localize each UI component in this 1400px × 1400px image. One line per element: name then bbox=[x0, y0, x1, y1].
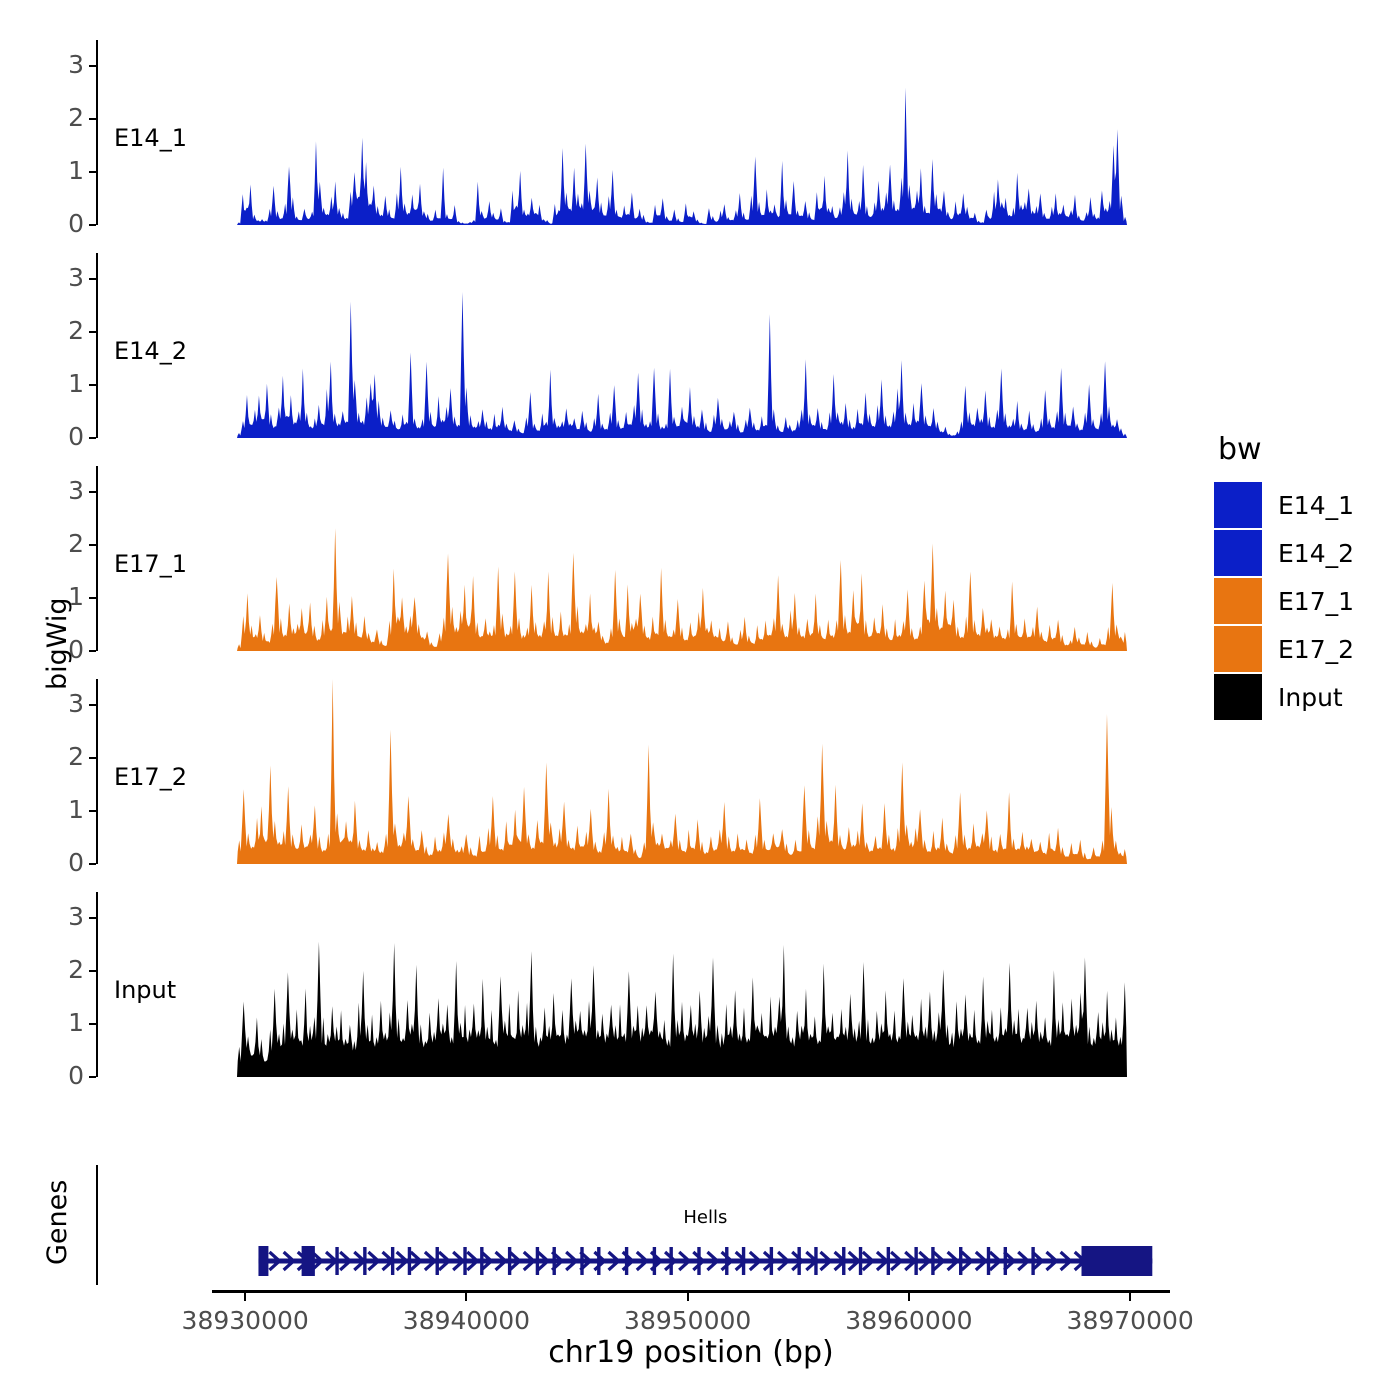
x-tick-label: 38930000 bbox=[145, 1306, 345, 1335]
y-tick-label: 1 bbox=[16, 1010, 84, 1035]
legend-items: E14_1E14_2E17_1E17_2Input bbox=[1214, 481, 1354, 721]
gene-exon-tick bbox=[669, 1247, 672, 1275]
bigwig-panel-e14_1: 0123E14_1 bbox=[96, 40, 1167, 225]
panel-label-e14_2: E14_2 bbox=[114, 337, 187, 365]
x-tick bbox=[687, 1293, 689, 1301]
legend: bw E14_1E14_2E17_1E17_2Input bbox=[1214, 432, 1354, 721]
gene-exon-tick bbox=[725, 1247, 728, 1275]
y-tick bbox=[89, 970, 96, 972]
legend-color-swatch bbox=[1214, 674, 1262, 720]
gene-exon-tick bbox=[914, 1247, 917, 1275]
gene-exon-block bbox=[258, 1246, 268, 1276]
y-tick bbox=[89, 278, 96, 280]
y-tick-label: 0 bbox=[16, 1063, 84, 1088]
y-tick bbox=[89, 1076, 96, 1078]
y-tick bbox=[89, 917, 96, 919]
y-tick-label: 2 bbox=[16, 105, 84, 130]
legend-color-swatch bbox=[1214, 482, 1262, 528]
gene-exon-tick bbox=[742, 1247, 745, 1275]
signal-area-e17_2 bbox=[237, 679, 1127, 864]
y-tick bbox=[89, 491, 96, 493]
x-tick-label: 38970000 bbox=[1030, 1306, 1230, 1335]
y-tick bbox=[89, 544, 96, 546]
x-axis-line bbox=[212, 1290, 1170, 1293]
y-tick bbox=[89, 757, 96, 759]
gene-exon-tick bbox=[597, 1247, 600, 1275]
signal-track-e17_1 bbox=[237, 466, 1127, 651]
x-axis-title: chr19 position (bp) bbox=[212, 1335, 1170, 1370]
legend-item-label: E17_1 bbox=[1278, 587, 1354, 616]
y-tick bbox=[89, 331, 96, 333]
gene-exon-tick bbox=[408, 1247, 411, 1275]
legend-item-label: E17_2 bbox=[1278, 635, 1354, 664]
gene-exon-tick bbox=[697, 1247, 700, 1275]
y-tick-label: 1 bbox=[16, 371, 84, 396]
legend-item-label: E14_2 bbox=[1278, 539, 1354, 568]
y-tick-label: 3 bbox=[16, 478, 84, 503]
panel-y-axis bbox=[96, 40, 98, 225]
gene-label-hells: Hells bbox=[605, 1207, 805, 1228]
panel-label-e14_1: E14_1 bbox=[114, 124, 187, 152]
panel-label-e17_2: E17_2 bbox=[114, 763, 187, 791]
gene-exon-tick bbox=[391, 1247, 394, 1275]
y-axis-title-genes: Genes bbox=[42, 1180, 73, 1265]
signal-area-e14_2 bbox=[237, 253, 1127, 438]
genes-panel: Hells bbox=[96, 1165, 1176, 1285]
y-tick-label: 0 bbox=[16, 424, 84, 449]
gene-exon-tick bbox=[797, 1247, 800, 1275]
genome-browser-figure: bigWig Genes 0123E14_10123E14_20123E17_1… bbox=[0, 0, 1400, 1400]
bigwig-panel-input: 0123Input bbox=[96, 892, 1167, 1077]
gene-exon-block bbox=[302, 1246, 315, 1276]
y-tick-label: 2 bbox=[16, 531, 84, 556]
legend-item-label: E14_1 bbox=[1278, 491, 1354, 520]
signal-track-input bbox=[237, 892, 1127, 1077]
y-tick-label: 1 bbox=[16, 797, 84, 822]
gene-exon-tick bbox=[580, 1247, 583, 1275]
y-tick bbox=[89, 597, 96, 599]
signal-track-e14_1 bbox=[237, 40, 1127, 225]
gene-exon-tick bbox=[436, 1247, 439, 1275]
gene-exon-block bbox=[1082, 1246, 1153, 1276]
legend-item-e14_1[interactable]: E14_1 bbox=[1214, 481, 1354, 529]
panel-y-axis bbox=[96, 679, 98, 864]
panel-y-axis bbox=[96, 892, 98, 1077]
gene-exon-tick bbox=[553, 1247, 556, 1275]
gene-exon-tick bbox=[987, 1247, 990, 1275]
signal-track-e14_2 bbox=[237, 253, 1127, 438]
y-tick bbox=[89, 704, 96, 706]
legend-item-e17_1[interactable]: E17_1 bbox=[1214, 577, 1354, 625]
x-tick-label: 38960000 bbox=[809, 1306, 1009, 1335]
gene-exon-tick bbox=[859, 1247, 862, 1275]
y-tick-label: 3 bbox=[16, 52, 84, 77]
gene-exon-tick bbox=[931, 1247, 934, 1275]
gene-exon-tick bbox=[814, 1247, 817, 1275]
y-tick bbox=[89, 863, 96, 865]
y-tick bbox=[89, 65, 96, 67]
y-tick-label: 1 bbox=[16, 584, 84, 609]
gene-exon-tick bbox=[480, 1247, 483, 1275]
signal-area-e14_1 bbox=[237, 40, 1127, 225]
y-tick-label: 1 bbox=[16, 158, 84, 183]
gene-exon-tick bbox=[959, 1247, 962, 1275]
y-tick bbox=[89, 171, 96, 173]
gene-exon-tick bbox=[1004, 1247, 1007, 1275]
gene-exon-tick bbox=[625, 1247, 628, 1275]
x-tick bbox=[908, 1293, 910, 1301]
signal-area-e17_1 bbox=[237, 466, 1127, 651]
legend-item-e14_2[interactable]: E14_2 bbox=[1214, 529, 1354, 577]
gene-exon-tick bbox=[770, 1247, 773, 1275]
y-tick bbox=[89, 224, 96, 226]
gene-exon-tick bbox=[653, 1247, 656, 1275]
gene-exon-tick bbox=[1031, 1247, 1034, 1275]
y-tick bbox=[89, 650, 96, 652]
gene-exon-tick bbox=[363, 1247, 366, 1275]
y-tick-label: 3 bbox=[16, 691, 84, 716]
legend-item-label: Input bbox=[1278, 683, 1343, 712]
bigwig-panel-e14_2: 0123E14_2 bbox=[96, 253, 1167, 438]
bigwig-panel-e17_2: 0123E17_2 bbox=[96, 679, 1167, 864]
gene-exon-tick bbox=[887, 1247, 890, 1275]
gene-exon-tick bbox=[335, 1247, 338, 1275]
y-tick bbox=[89, 384, 96, 386]
y-tick-label: 0 bbox=[16, 637, 84, 662]
x-tick bbox=[244, 1293, 246, 1301]
gene-exon-tick bbox=[508, 1247, 511, 1275]
legend-color-swatch bbox=[1214, 578, 1262, 624]
legend-color-swatch bbox=[1214, 626, 1262, 672]
y-tick bbox=[89, 437, 96, 439]
panel-y-axis bbox=[96, 466, 98, 651]
gene-exon-tick bbox=[463, 1247, 466, 1275]
bigwig-panel-e17_1: 0123E17_1 bbox=[96, 466, 1167, 651]
gene-exon-tick bbox=[536, 1247, 539, 1275]
x-tick-label: 38940000 bbox=[366, 1306, 566, 1335]
y-tick bbox=[89, 1023, 96, 1025]
y-tick-label: 0 bbox=[16, 850, 84, 875]
legend-color-swatch bbox=[1214, 530, 1262, 576]
y-tick-label: 0 bbox=[16, 211, 84, 236]
y-tick-label: 3 bbox=[16, 265, 84, 290]
signal-track-e17_2 bbox=[237, 679, 1127, 864]
x-tick-label: 38950000 bbox=[588, 1306, 788, 1335]
y-tick-label: 2 bbox=[16, 744, 84, 769]
y-tick bbox=[89, 118, 96, 120]
y-tick-label: 2 bbox=[16, 957, 84, 982]
gene-track: Hells bbox=[98, 1165, 1176, 1285]
legend-item-input[interactable]: Input bbox=[1214, 673, 1354, 721]
y-tick-label: 3 bbox=[16, 904, 84, 929]
y-tick-label: 2 bbox=[16, 318, 84, 343]
panel-label-e17_1: E17_1 bbox=[114, 550, 187, 578]
panel-label-input: Input bbox=[114, 976, 176, 1004]
x-tick bbox=[1129, 1293, 1131, 1301]
gene-exon-tick bbox=[842, 1247, 845, 1275]
y-tick bbox=[89, 810, 96, 812]
signal-area-input bbox=[237, 892, 1127, 1077]
legend-item-e17_2[interactable]: E17_2 bbox=[1214, 625, 1354, 673]
panel-y-axis bbox=[96, 253, 98, 438]
x-tick bbox=[465, 1293, 467, 1301]
legend-title: bw bbox=[1218, 432, 1354, 467]
